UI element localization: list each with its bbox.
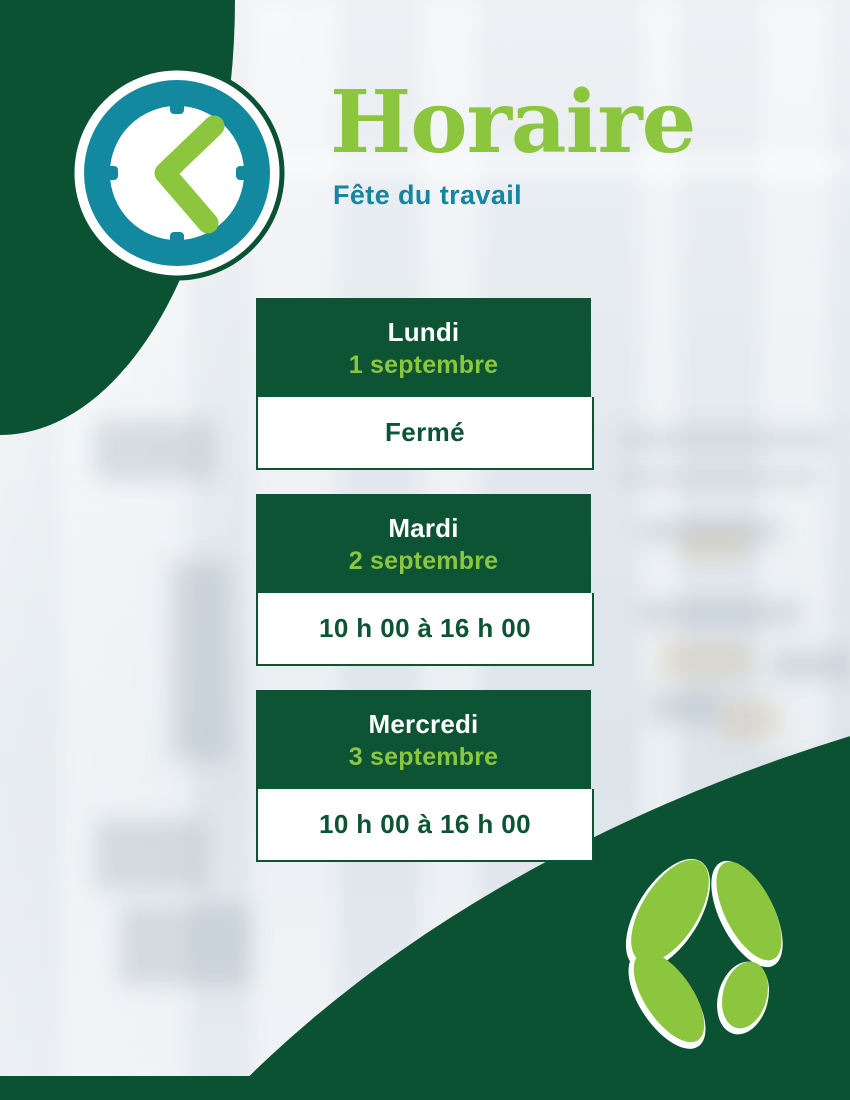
schedule-card: Mardi 2 septembre 10 h 00 à 16 h 00 [256, 494, 594, 666]
schedule-date-label: 1 septembre [266, 349, 581, 382]
title-block: Horaire Fête du travail [330, 82, 800, 211]
poster-canvas: Horaire Fête du travail Lundi 1 septembr… [0, 0, 850, 1100]
schedule-list: Lundi 1 septembre Fermé Mardi 2 septembr… [256, 298, 594, 862]
schedule-hours-label: 10 h 00 à 16 h 00 [268, 613, 582, 644]
schedule-day-label: Mardi [266, 512, 581, 545]
schedule-date-label: 3 septembre [266, 741, 581, 774]
decor-bottom-strip [0, 1076, 850, 1100]
schedule-card-body: 10 h 00 à 16 h 00 [256, 593, 594, 666]
schedule-card-header: Mercredi 3 septembre [256, 690, 591, 789]
schedule-date-label: 2 septembre [266, 545, 581, 578]
schedule-card-body: 10 h 00 à 16 h 00 [256, 789, 594, 862]
schedule-card: Mercredi 3 septembre 10 h 00 à 16 h 00 [256, 690, 594, 862]
schedule-card-header: Lundi 1 septembre [256, 298, 591, 397]
schedule-card-body: Fermé [256, 397, 594, 470]
clock-icon [68, 64, 286, 282]
schedule-day-label: Mercredi [266, 708, 581, 741]
schedule-day-label: Lundi [266, 316, 581, 349]
butterfly-logo-icon [612, 852, 802, 1057]
schedule-card-header: Mardi 2 septembre [256, 494, 591, 593]
page-subtitle: Fête du travail [333, 180, 800, 211]
schedule-hours-label: 10 h 00 à 16 h 00 [268, 809, 582, 840]
schedule-card: Lundi 1 septembre Fermé [256, 298, 594, 470]
schedule-hours-label: Fermé [268, 417, 582, 448]
page-title: Horaire [330, 82, 800, 164]
